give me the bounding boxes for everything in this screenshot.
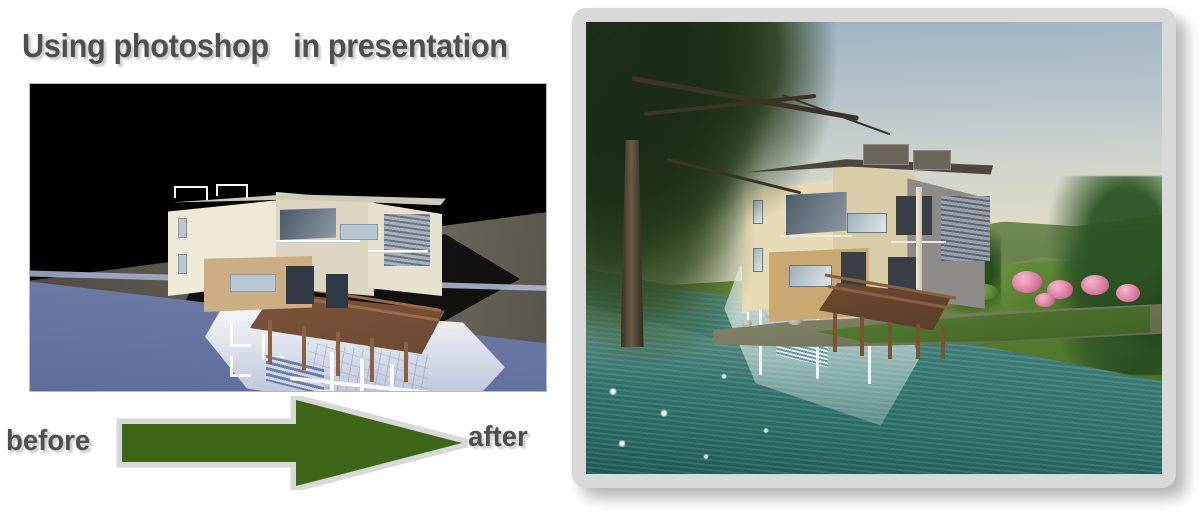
before-reflection-detail xyxy=(230,356,251,377)
before-deck-post xyxy=(404,342,408,382)
before-deck-post xyxy=(336,332,340,376)
before-label: before xyxy=(6,425,90,458)
after-roof-terrace-rail xyxy=(913,150,951,169)
before-window xyxy=(178,254,187,274)
after-flowering-shrub xyxy=(1116,284,1140,302)
after-deck-post xyxy=(916,324,920,359)
after-deck-post xyxy=(941,326,945,359)
before-window xyxy=(340,224,378,240)
after-deck-post xyxy=(888,322,892,359)
before-deck-post xyxy=(268,320,272,364)
before-reflection-detail xyxy=(230,322,251,347)
before-louver-screen xyxy=(384,214,430,266)
before-reflection-column xyxy=(330,352,334,392)
before-door-opening xyxy=(326,274,348,308)
after-image-frame[interactable] xyxy=(572,8,1176,488)
after-window xyxy=(847,213,888,232)
page-title: Using photoshop in presentation xyxy=(22,27,508,65)
before-balcony-rail xyxy=(368,250,428,253)
before-reflection-column xyxy=(360,358,364,392)
before-image[interactable] xyxy=(29,83,547,392)
before-glass-wall xyxy=(280,208,336,240)
after-louver-screen xyxy=(941,196,991,261)
before-reflection-column xyxy=(390,364,394,392)
before-window xyxy=(178,218,187,238)
after-image[interactable] xyxy=(586,22,1162,474)
before-balcony-rail xyxy=(276,240,360,243)
slide-canvas: Using photoshop in presentation xyxy=(0,0,1200,512)
before-house xyxy=(168,182,438,322)
before-window xyxy=(230,274,276,292)
before-deck-post xyxy=(302,326,306,370)
before-deck-post xyxy=(370,338,374,382)
after-label: after xyxy=(468,421,528,454)
after-deck-post xyxy=(860,317,864,356)
before-door-opening xyxy=(286,266,314,304)
after-glass-bay xyxy=(896,196,932,235)
after-roof-terrace-rail xyxy=(863,144,909,166)
right-arrow-icon xyxy=(116,396,468,490)
